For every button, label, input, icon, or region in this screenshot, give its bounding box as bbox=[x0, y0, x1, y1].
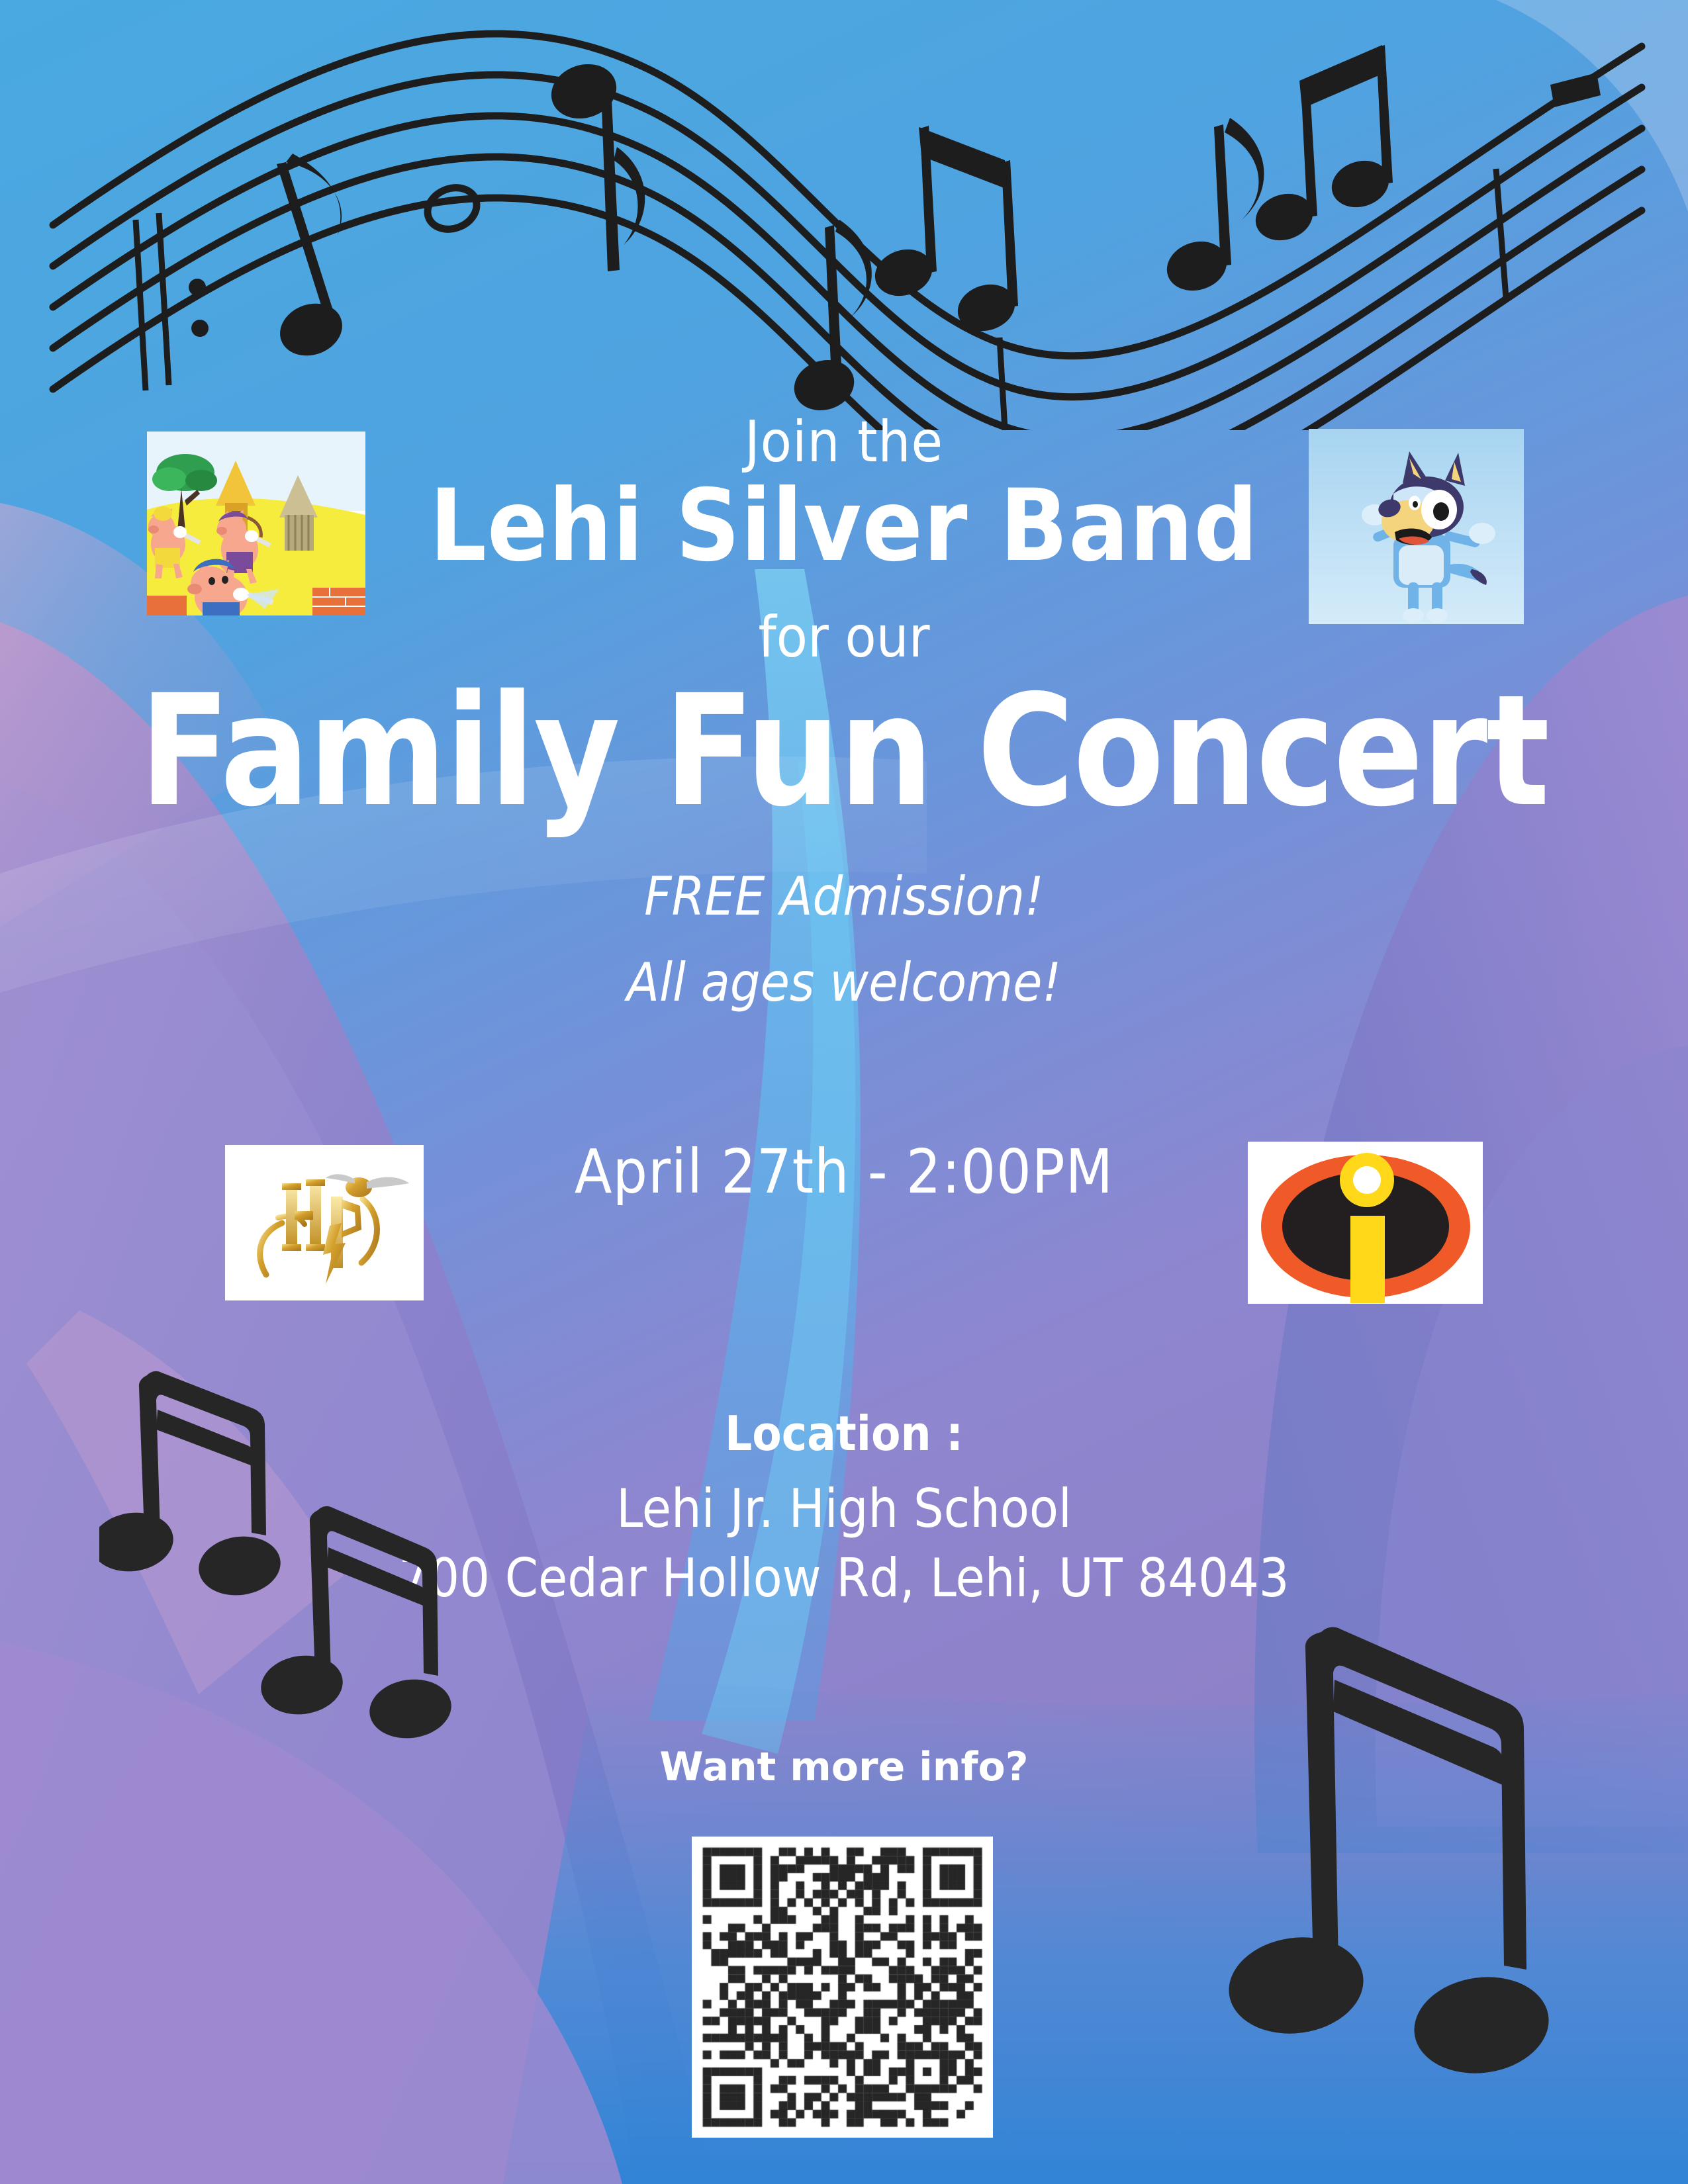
eighth-notes-icon bbox=[1192, 1602, 1562, 2105]
concert-flyer: Join the Lehi Silver Band for our Family… bbox=[0, 0, 1688, 2184]
event-datetime: April 27th - 2:00PM bbox=[0, 1142, 1688, 1203]
ages-note: All ages welcome! bbox=[0, 956, 1688, 1009]
admission-note: FREE Admission! bbox=[0, 870, 1688, 923]
band-name: Lehi Silver Band bbox=[0, 477, 1688, 576]
eighth-notes-left-svg bbox=[99, 1337, 457, 1800]
music-staff-svg bbox=[46, 7, 1648, 430]
headline-pre: Join the bbox=[0, 414, 1688, 471]
music-staff-icon bbox=[46, 7, 1648, 430]
page-title: Family Fun Concert bbox=[34, 668, 1654, 835]
qr-code-icon[interactable] bbox=[692, 1837, 993, 2138]
headline-mid: for our bbox=[0, 609, 1688, 666]
eighth-notes-right-svg bbox=[1192, 1602, 1562, 2105]
qr-code-canvas[interactable] bbox=[692, 1837, 993, 2138]
eighth-notes-icon bbox=[99, 1337, 457, 1800]
